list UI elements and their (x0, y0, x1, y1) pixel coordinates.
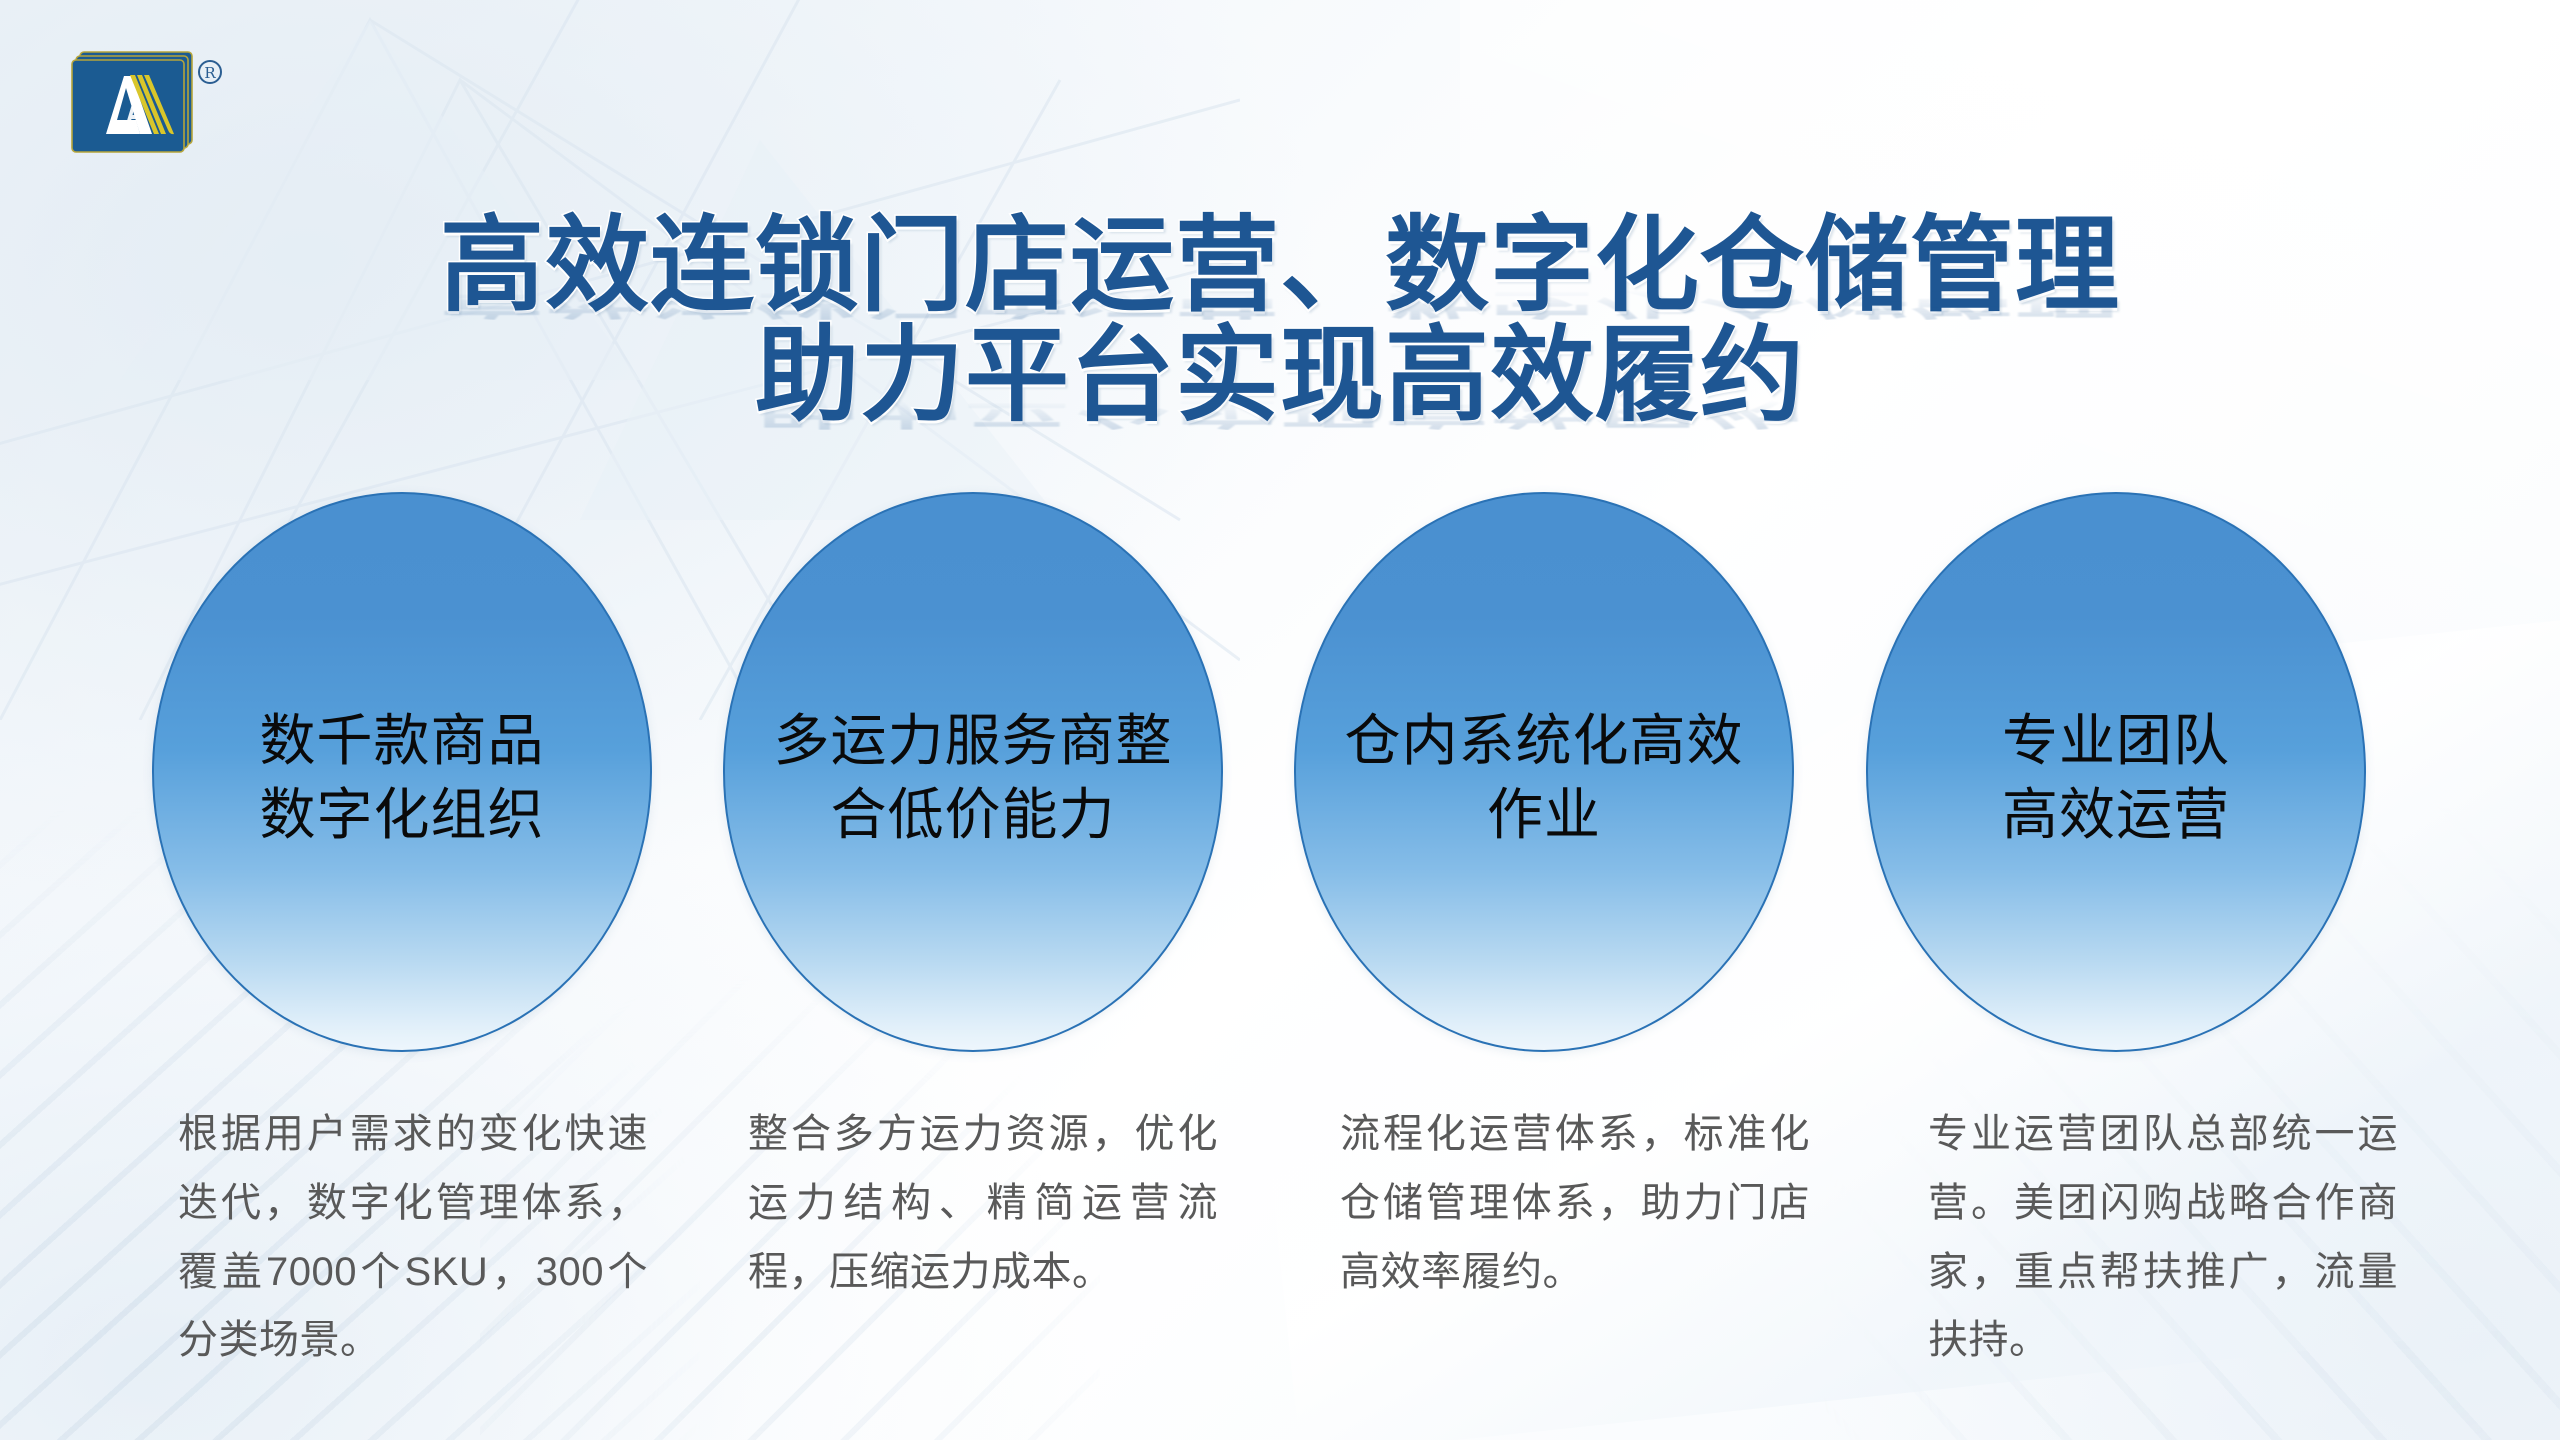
pillar-circles-row: 数千款商品 数字化组织 多运力服务商整 合低价能力 仓内系统化高效 作业 专业团… (0, 492, 2560, 1072)
pillar-circle-2-label: 多运力服务商整 合低价能力 (774, 704, 1173, 852)
brand-logo: R (62, 42, 252, 182)
pillar-circle-3[interactable]: 仓内系统化高效 作业 (1294, 492, 1794, 1052)
pillar-circle-1-label: 数千款商品 数字化组织 (260, 704, 545, 852)
title-line-2-text: 助力平台实现高效履约 (755, 314, 1805, 436)
presentation-slide: R 高效连锁门店运营、数字化仓储管理 高效连锁门店运营、数字化仓储管理 助力平台… (0, 0, 2560, 1440)
pillar-circle-4-label: 专业团队 高效运营 (2002, 704, 2230, 852)
slide-title: 高效连锁门店运营、数字化仓储管理 高效连锁门店运营、数字化仓储管理 助力平台实现… (0, 210, 2560, 430)
pillar-circle-3-label: 仓内系统化高效 作业 (1345, 704, 1744, 852)
pillar-circle-4[interactable]: 专业团队 高效运营 (1866, 492, 2366, 1052)
title-line-2: 助力平台实现高效履约 助力平台实现高效履约 (0, 320, 2560, 430)
title-line-1-text: 高效连锁门店运营、数字化仓储管理 (440, 204, 2120, 326)
pillar-caption-1: 根据用户需求的变化快速迭代，数字化管理体系，覆盖7000个SKU，300个分类场… (178, 1100, 648, 1375)
pillar-caption-2: 整合多方运力资源，优化运力结构、精简运营流程，压缩运力成本。 (748, 1100, 1218, 1306)
pillar-caption-3: 流程化运营体系，标准化仓储管理体系，助力门店高效率履约。 (1340, 1100, 1810, 1306)
pillar-caption-4: 专业运营团队总部统一运营。美团闪购战略合作商家，重点帮扶推广，流量扶持。 (1928, 1100, 2398, 1375)
title-line-1: 高效连锁门店运营、数字化仓储管理 高效连锁门店运营、数字化仓储管理 (0, 210, 2560, 320)
logo-icon: R (62, 42, 252, 182)
svg-text:R: R (204, 64, 216, 82)
pillar-circle-1[interactable]: 数千款商品 数字化组织 (152, 492, 652, 1052)
pillar-captions-row: 根据用户需求的变化快速迭代，数字化管理体系，覆盖7000个SKU，300个分类场… (0, 1100, 2560, 1440)
pillar-circle-2[interactable]: 多运力服务商整 合低价能力 (723, 492, 1223, 1052)
